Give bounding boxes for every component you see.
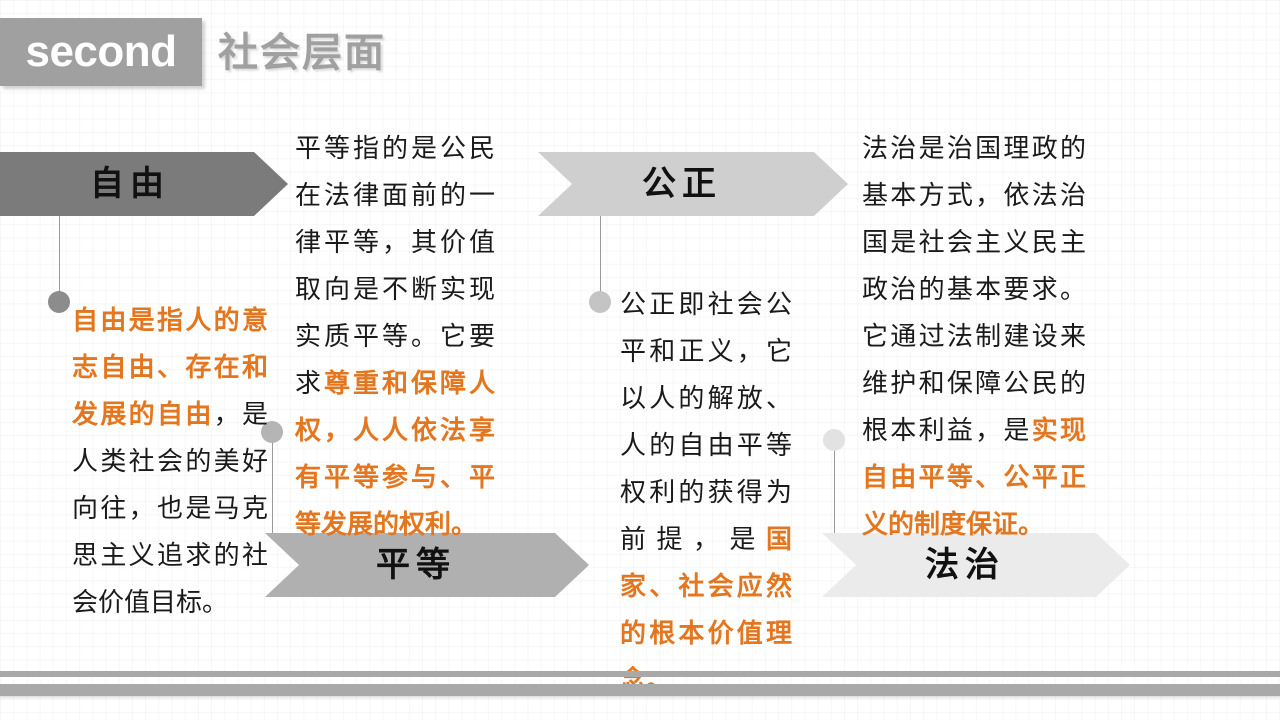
connector-dot-fazhi	[823, 429, 845, 451]
footer-rule-thin	[0, 671, 1280, 677]
paragraph-gongzheng: 公正即社会公平和正义，它以人的解放、人的自由平等权利的获得为前提，是国家、社会应…	[620, 281, 792, 704]
connector-dot-ziyou	[48, 291, 70, 313]
header-subtitle: 社会层面	[218, 18, 386, 86]
paragraph-pingdeng-plain: 平等指的是公民在法律面前的一律平等，其价值取向是不断实现实质平等。它要求	[295, 133, 495, 398]
paragraph-fazhi: 法治是治国理政的基本方式，依法治国是社会主义民主政治的基本要求。它通过法制建设来…	[862, 125, 1086, 548]
paragraph-ziyou: 自由是指人的意志自由、存在和发展的自由，是人类社会的美好向往，也是马克思主义追求…	[72, 297, 268, 626]
paragraph-pingdeng-highlight: 尊重和保障人权，人人依法享有平等参与、平等发展的权利。	[295, 368, 495, 539]
connector-line-pingdeng	[272, 432, 273, 533]
connector-line-ziyou	[59, 216, 60, 300]
header-badge-label: second	[0, 18, 202, 86]
connector-dot-gongzheng	[589, 291, 611, 313]
banner-gongzheng[interactable]: 公正	[538, 152, 848, 216]
banner-ziyou[interactable]: 自由	[0, 152, 288, 216]
header-badge: second	[0, 18, 202, 86]
paragraph-ziyou-plain: ，是人类社会的美好向往，也是马克思主义追求的社会价值目标。	[72, 399, 268, 617]
footer-rule-thick	[0, 684, 1280, 696]
paragraph-pingdeng: 平等指的是公民在法律面前的一律平等，其价值取向是不断实现实质平等。它要求尊重和保…	[295, 125, 495, 548]
slide-canvas: second 社会层面 自由 平等 公正 法治 自由是指人的意志自由、存在和发展…	[0, 0, 1280, 720]
connector-line-fazhi	[834, 440, 835, 533]
connector-line-gongzheng	[600, 216, 601, 300]
paragraph-fazhi-plain: 法治是治国理政的基本方式，依法治国是社会主义民主政治的基本要求。它通过法制建设来…	[862, 133, 1086, 445]
paragraph-gongzheng-plain: 公正即社会公平和正义，它以人的解放、人的自由平等权利的获得为前提，是	[620, 289, 792, 554]
